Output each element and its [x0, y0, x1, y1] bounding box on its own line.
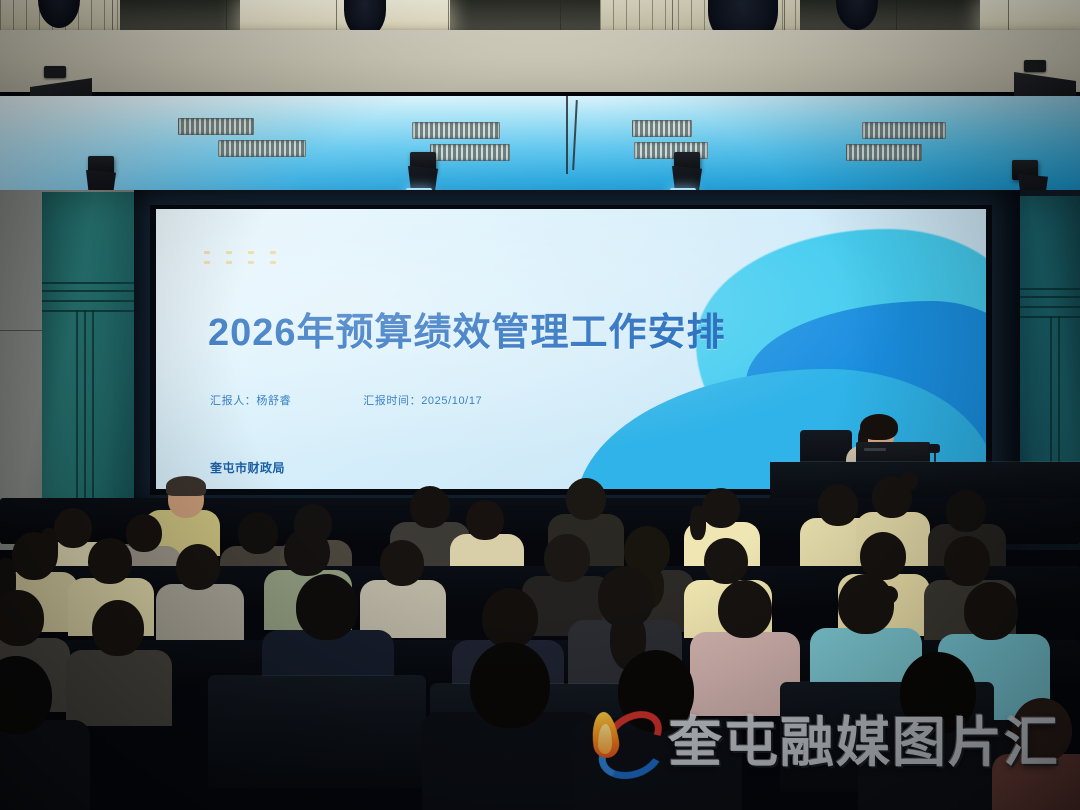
- air-vent: [412, 122, 500, 139]
- person-head: [88, 538, 132, 584]
- air-vent: [846, 144, 922, 161]
- ceiling-soffit: [0, 30, 1080, 92]
- watermark-text: 奎屯融媒图片汇: [668, 698, 1060, 777]
- panel-line: [42, 290, 134, 292]
- person-head: [544, 534, 590, 582]
- flame-swoosh-logo-icon: [578, 706, 656, 770]
- air-vent: [218, 140, 306, 157]
- air-vent: [632, 120, 692, 137]
- panel-line: [1012, 288, 1080, 290]
- slide-reporter: 汇报人：杨舒睿: [210, 392, 291, 408]
- person-head: [482, 588, 538, 648]
- person-hair: [690, 506, 706, 540]
- person-head: [718, 580, 772, 638]
- person-hair: [166, 476, 206, 496]
- person-head: [380, 540, 424, 586]
- air-vent: [862, 122, 946, 139]
- dot-pair: [270, 251, 276, 264]
- person-head: [176, 544, 220, 590]
- person-head: [946, 490, 986, 532]
- flame-inner-icon: [598, 724, 612, 754]
- panel-line: [42, 310, 134, 312]
- slide-meta: 汇报人：杨舒睿 汇报时间：2025/10/17: [210, 392, 482, 408]
- microphone-icon: [928, 444, 940, 453]
- dot-pair: [204, 251, 210, 264]
- dot-pair: [248, 251, 254, 264]
- panel-line: [42, 282, 134, 284]
- person-head: [92, 600, 144, 656]
- air-vent: [430, 144, 510, 161]
- person-hair-bun: [900, 472, 918, 490]
- ceiling-light-strip: [980, 0, 1080, 34]
- person-head: [410, 486, 450, 528]
- watermark: 奎屯融媒图片汇: [578, 698, 1060, 777]
- dot-pair: [226, 251, 232, 264]
- person-head: [466, 500, 504, 540]
- person-head: [860, 532, 906, 580]
- panel-line: [42, 300, 134, 302]
- person-head: [296, 574, 358, 640]
- person-head: [238, 512, 278, 554]
- person-head: [704, 538, 748, 584]
- panel-line: [1012, 316, 1080, 318]
- slide-decor-dots: [204, 251, 276, 264]
- person-head: [566, 478, 606, 520]
- air-vent: [178, 118, 254, 135]
- panel-line: [1012, 296, 1080, 298]
- person-head: [0, 590, 44, 646]
- person-head: [284, 528, 330, 576]
- person-head: [54, 508, 92, 548]
- seat-back: [208, 676, 426, 788]
- person-torso: [66, 650, 172, 726]
- person-head: [702, 488, 740, 528]
- speaker-mount: [44, 66, 66, 78]
- person-head: [470, 642, 550, 728]
- person-head: [838, 574, 894, 634]
- panel-line: [1012, 306, 1080, 308]
- slide-date: 汇报时间：2025/10/17: [363, 392, 482, 408]
- ceiling-cable: [566, 96, 568, 174]
- person-head: [818, 484, 858, 526]
- person-hair-bun: [880, 586, 898, 604]
- person-head: [12, 532, 56, 580]
- person-head: [944, 536, 990, 586]
- photo-scene: 2026年预算绩效管理工作安排 汇报人：杨舒睿 汇报时间：2025/10/17 …: [0, 0, 1080, 810]
- person-head: [964, 582, 1018, 640]
- person-head: [126, 514, 162, 552]
- slide-title: 2026年预算绩效管理工作安排: [208, 301, 726, 356]
- person-torso: [156, 584, 244, 642]
- speaker-mount: [1024, 60, 1046, 72]
